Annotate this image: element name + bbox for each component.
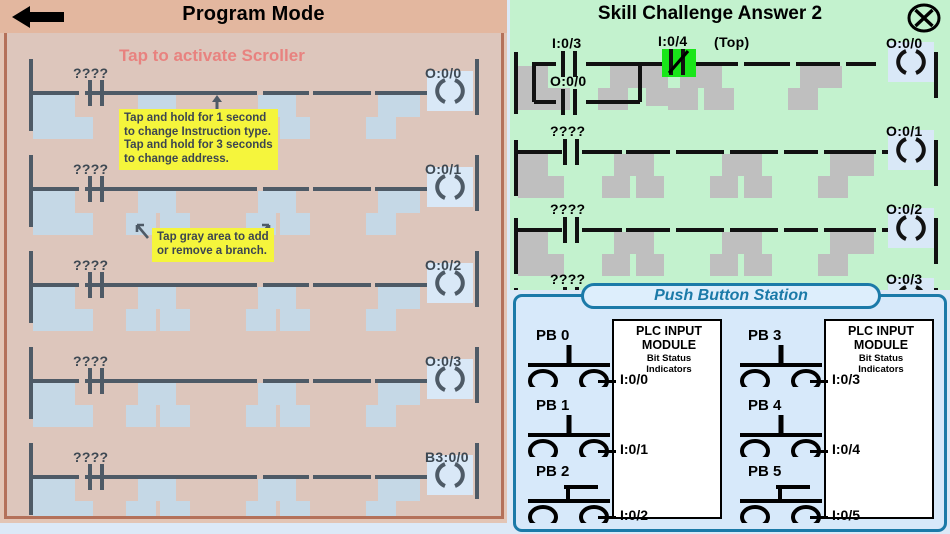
terminal-wire [810,380,828,383]
power-rail [475,59,479,115]
branch-target-area[interactable] [598,88,628,110]
plc-input-module-title-line: MODULE [826,338,936,352]
terminal-wire [810,450,828,453]
branch-target-area[interactable] [830,232,874,254]
plc-input-module: PLC INPUTMODULEBit StatusIndicators [612,319,722,519]
branch-target-area[interactable] [258,383,296,405]
close-circle-x-icon[interactable] [906,3,942,33]
rung-wire [784,150,818,154]
power-rail [475,443,479,499]
branch-target-area[interactable] [636,176,664,198]
rung-wire [784,228,818,232]
branch-target-area[interactable] [280,117,310,139]
branch-target-area[interactable] [378,479,420,501]
branch-target-area[interactable] [280,213,310,235]
series-address-label: I:0/4 [658,33,688,49]
power-rail [934,52,938,98]
rung-wire [796,62,840,66]
rung-wire [313,475,371,479]
branch-target-area[interactable] [258,191,296,213]
branch-target-area[interactable] [33,479,75,501]
bit-status-label: I:0/0 [620,371,648,387]
rung-wire [313,91,371,95]
terminal-wire [598,450,616,453]
power-rail [638,62,642,102]
rung-wire [586,62,640,66]
power-rail [532,62,536,102]
program-mode-panel: Program Mode ????O:0/0????O:0/1????O:0/2… [0,0,507,523]
bit-status-label: I:0/3 [832,371,860,387]
coil-address-label: O:0/1 [425,161,462,177]
branch-target-area[interactable] [258,287,296,309]
branch-target-area[interactable] [788,88,818,110]
rung: ????O:0/3 [7,331,501,423]
bit-status-label: I:0/2 [620,507,648,523]
branch-top-address-label: I:0/3 [552,35,582,51]
plc-input-module-title: PLC INPUTMODULE [826,324,936,352]
contact-no-icon[interactable] [81,368,111,394]
top-annotation-label: (Top) [714,34,749,50]
branch-target-area[interactable] [33,501,93,519]
contact-address-label: ???? [550,271,585,287]
push-button-group: PLC INPUTMODULEBit StatusIndicatorsPB 0I… [520,311,725,526]
contact-address-label: ???? [550,201,585,217]
rung: ????B3:0/0 [7,427,501,519]
left-panel-header: Program Mode [0,0,507,33]
branch-target-area[interactable] [518,154,548,176]
push-button-group: PLC INPUTMODULEBit StatusIndicatorsPB 3I… [732,311,937,526]
left-ladder-area[interactable]: ????O:0/0????O:0/1????O:0/2????O:0/3????… [4,33,504,519]
branch-target-area[interactable] [668,88,698,110]
branch-target-area[interactable] [366,309,396,331]
branch-target-area[interactable] [602,176,630,198]
plc-input-module: PLC INPUTMODULEBit StatusIndicators [824,319,934,519]
rung-wire [696,62,738,66]
contact-address-label: ???? [73,161,108,177]
rung-wire [846,62,876,66]
coil-address-label: B3:0/0 [425,449,469,465]
branch-target-area[interactable] [138,287,176,309]
coil-address-label: O:0/0 [886,35,923,51]
branch-target-area[interactable] [366,405,396,427]
plc-input-module-subtitle-line: Bit Status [826,353,936,364]
push-button-station: Push Button Station PLC INPUTMODULEBit S… [513,294,947,532]
branch-target-area[interactable] [722,232,762,254]
terminal-wire [598,380,616,383]
rung: I:0/3O:0/0I:0/4(Top)O:0/0 [510,36,950,128]
scroller-hint-label: Tap to activate Scroller [119,46,305,66]
plc-input-module-title: PLC INPUTMODULE [614,324,724,352]
branch-target-area[interactable] [138,191,176,213]
rung-wire [640,62,662,66]
bit-status-label: I:0/1 [620,441,648,457]
coil-address-label: O:0/2 [425,257,462,273]
branch-target-area[interactable] [246,309,276,331]
branch-target-area[interactable] [378,95,420,117]
power-rail [934,218,938,264]
branch-target-area[interactable] [378,191,420,213]
contact-address-label: ???? [73,449,108,465]
branch-target-area[interactable] [800,66,842,88]
branch-tooltip: Tap gray area to add or remove a branch. [152,228,274,262]
coil-address-label: O:0/1 [886,123,923,139]
contact-no-icon[interactable] [556,217,586,243]
branch-bottom-address-label: O:0/0 [550,73,587,89]
branch-target-area[interactable] [126,309,156,331]
branch-target-area[interactable] [366,117,396,139]
rung-wire [676,228,724,232]
power-rail [514,288,518,290]
contact-address-label: ???? [550,123,585,139]
branch-target-area[interactable] [33,117,93,139]
page-title: Program Mode [0,3,507,26]
rung-wire [534,100,556,104]
branch-target-area[interactable] [126,405,156,427]
plc-input-module-subtitle-line: Bit Status [614,353,724,364]
contact-address-label: ???? [73,257,108,273]
branch-target-area[interactable] [33,95,75,117]
app-root: Program Mode ????O:0/0????O:0/1????O:0/2… [0,0,950,534]
branch-target-area[interactable] [744,176,772,198]
branch-target-area[interactable] [704,88,734,110]
branch-target-area[interactable] [160,501,190,519]
bit-status-label: I:0/5 [832,507,860,523]
contact-nc-icon[interactable] [662,49,696,77]
rung-wire [313,187,371,191]
contact-address-label: ???? [73,353,108,369]
branch-target-area[interactable] [710,176,738,198]
power-rail [475,155,479,211]
rung-wire [313,283,371,287]
push-button-station-legend: Push Button Station [581,283,881,309]
branch-target-area[interactable] [378,287,420,309]
contact-no-icon[interactable] [554,89,584,115]
right-panel-title: Skill Challenge Answer 2 [510,3,910,25]
branch-target-area[interactable] [830,154,874,176]
branch-arrow-left-icon [135,223,151,246]
branch-target-area[interactable] [614,154,654,176]
power-rail [475,251,479,307]
branch-target-area[interactable] [246,405,276,427]
branch-target-area[interactable] [280,501,310,519]
plc-input-module-title-line: PLC INPUT [614,324,724,338]
plc-input-module-title-line: MODULE [614,338,724,352]
branch-target-area[interactable] [366,213,396,235]
branch-target-area[interactable] [614,232,654,254]
branch-target-area[interactable] [160,309,190,331]
terminal-wire [598,516,616,519]
power-rail [934,140,938,186]
branch-target-area[interactable] [518,232,548,254]
branch-target-area[interactable] [280,309,310,331]
contact-no-icon[interactable] [81,464,111,490]
branch-target-area[interactable] [33,309,93,331]
contact-no-icon[interactable] [81,176,111,202]
rung-wire [586,100,640,104]
branch-target-area[interactable] [280,405,310,427]
coil-address-label: O:0/3 [425,353,462,369]
branch-target-area[interactable] [378,383,420,405]
rung-wire [313,379,371,383]
rung-wire [744,62,790,66]
branch-target-area[interactable] [258,479,296,501]
power-rail [475,347,479,403]
branch-target-area[interactable] [366,501,396,519]
rung-wire [676,150,724,154]
contact-no-icon[interactable] [81,272,111,298]
branch-target-area[interactable] [33,191,75,213]
branch-target-area[interactable] [138,383,176,405]
branch-target-area[interactable] [33,213,93,235]
branch-target-area[interactable] [33,405,93,427]
branch-target-area[interactable] [722,154,762,176]
branch-target-area[interactable] [126,501,156,519]
terminal-wire [810,516,828,519]
coil-address-label: O:0/2 [886,201,923,217]
branch-target-area[interactable] [818,176,848,198]
push-button-station-legend-label: Push Button Station [654,287,808,304]
contact-no-icon[interactable] [556,139,586,165]
contact-address-label: ???? [73,65,108,81]
instruction-tooltip: Tap and hold for 1 second to change Inst… [119,109,278,170]
skill-challenge-panel: Skill Challenge Answer 2 I:0/3O:0/0I:0/4… [510,0,950,290]
coil-address-label: O:0/0 [425,65,462,81]
branch-target-area[interactable] [138,479,176,501]
bit-status-label: I:0/4 [832,441,860,457]
contact-no-icon[interactable] [81,80,111,106]
branch-target-area[interactable] [33,383,75,405]
branch-target-area[interactable] [518,176,564,198]
branch-target-area[interactable] [160,405,190,427]
power-rail [934,288,938,290]
rung-wire [534,62,556,66]
plc-input-module-title-line: PLC INPUT [826,324,936,338]
branch-target-area[interactable] [33,287,75,309]
branch-target-area[interactable] [246,501,276,519]
coil-address-label: O:0/3 [886,271,923,287]
